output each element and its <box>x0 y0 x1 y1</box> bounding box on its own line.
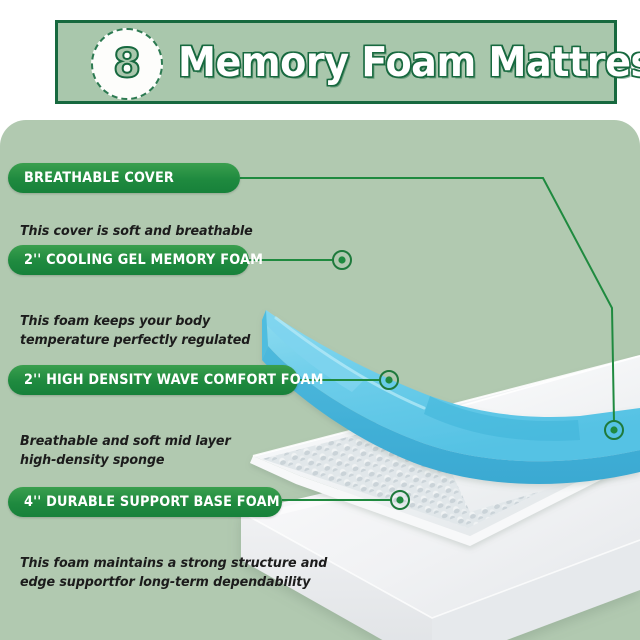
infographic-page: 8 Memory Foam Mattress <box>0 0 640 640</box>
header-band: 8 Memory Foam Mattress <box>55 20 617 104</box>
callout-label-text: 2'' HIGH DENSITY WAVE COMFORT FOAM <box>24 372 324 388</box>
callout-description-text: This cover is soft and breathable <box>20 222 253 241</box>
callout-description-high-density-wave-comfort-foam: Breathable and soft mid layer high-densi… <box>20 413 244 470</box>
callout-label-text: 4'' DURABLE SUPPORT BASE FOAM <box>24 494 280 510</box>
callout-label-text: BREATHABLE COVER <box>24 170 174 186</box>
callout-description-text: This foam maintains a strong structure a… <box>20 554 327 592</box>
callout-label-durable-support-base-foam[interactable]: 4'' DURABLE SUPPORT BASE FOAM <box>8 487 282 517</box>
callout-description-breathable-cover: This cover is soft and breathable <box>20 203 267 241</box>
callout-description-text: Breathable and soft mid layer high-densi… <box>20 432 231 470</box>
page-title: Memory Foam Mattress <box>178 38 640 86</box>
page-title-text: Memory Foam Mattress <box>178 38 640 86</box>
callout-description-cooling-gel-memory-foam: This foam keeps your body temperature pe… <box>20 293 265 350</box>
callout-label-text: 2'' COOLING GEL MEMORY FOAM <box>24 252 263 268</box>
header-badge-number: 8 <box>113 44 141 84</box>
callout-label-high-density-wave-comfort-foam[interactable]: 2'' HIGH DENSITY WAVE COMFORT FOAM <box>8 365 298 395</box>
callout-label-breathable-cover[interactable]: BREATHABLE COVER <box>8 163 240 193</box>
marker-cooling-gel <box>333 251 351 269</box>
callout-description-durable-support-base-foam: This foam maintains a strong structure a… <box>20 535 347 592</box>
callout-description-text: This foam keeps your body temperature pe… <box>20 312 250 350</box>
callout-label-cooling-gel-memory-foam[interactable]: 2'' COOLING GEL MEMORY FOAM <box>8 245 249 275</box>
header-number-badge: 8 <box>91 28 163 100</box>
